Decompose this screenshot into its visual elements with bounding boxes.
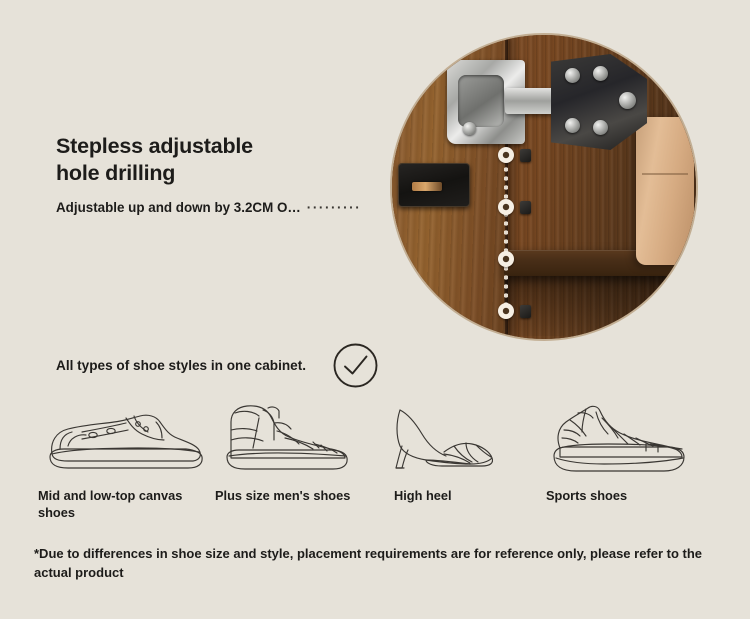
headline-line-2: hole drilling — [56, 160, 253, 187]
shelf-support-peg — [520, 305, 531, 318]
shoe-type-label: Mid and low-top canvas shoes — [38, 487, 215, 522]
drilling-hole-column — [498, 147, 514, 317]
cabinet-hinge — [447, 52, 647, 152]
hole-guide-dotted-line — [504, 147, 508, 317]
circle-check-icon — [332, 342, 379, 389]
styles-banner: All types of shoe styles in one cabinet. — [56, 342, 379, 389]
sports-shoe-icon — [540, 398, 730, 476]
hinge-screw — [593, 66, 608, 81]
hinge-screw — [463, 122, 476, 135]
feature-subline-row: Adjustable up and down by 3.2CM O… ·····… — [56, 200, 361, 215]
wood-background — [392, 35, 696, 339]
shoe-type-grid: Mid and low-top canvas shoes — [0, 398, 750, 522]
high-heel-icon — [382, 398, 520, 476]
shoe-type-label: High heel — [382, 487, 520, 504]
dotted-trail: ········· — [307, 200, 362, 215]
canvas-shoe-icon — [38, 398, 215, 476]
disclaimer-footnote: *Due to differences in shoe size and sty… — [34, 545, 724, 583]
shoe-type-label: Plus size men's shoes — [215, 487, 370, 504]
drilling-hole — [498, 251, 514, 267]
shoe-type-item: High heel — [370, 398, 520, 522]
headline-line-1: Stepless adjustable — [56, 133, 253, 160]
shoe-type-item: Mid and low-top canvas shoes — [0, 398, 215, 522]
hinge-screw — [565, 118, 580, 133]
cabinet-photo — [390, 33, 698, 341]
shelf-shadow — [504, 276, 698, 336]
drilling-hole — [498, 303, 514, 319]
shelf-support-peg — [520, 149, 531, 162]
shoe-type-item: Sports shoes — [520, 398, 730, 522]
high-top-sneaker-icon — [215, 398, 370, 476]
feature-subline: Adjustable up and down by 3.2CM O… — [56, 200, 301, 215]
styles-banner-text: All types of shoe styles in one cabinet. — [56, 358, 306, 373]
infographic-page: Stepless adjustable hole drilling Adjust… — [0, 0, 750, 619]
shelf-support-peg — [520, 201, 531, 214]
shoe-type-label: Sports shoes — [540, 487, 720, 504]
hinge-screw — [593, 120, 608, 135]
hinge-adjust-screw — [619, 92, 636, 109]
feature-headline: Stepless adjustable hole drilling — [56, 133, 253, 187]
drilling-hole — [498, 147, 514, 163]
hinge-screw — [565, 68, 580, 83]
black-mounting-bracket — [398, 163, 470, 207]
drilling-hole — [498, 199, 514, 215]
shoe-type-item: Plus size men's shoes — [215, 398, 370, 522]
